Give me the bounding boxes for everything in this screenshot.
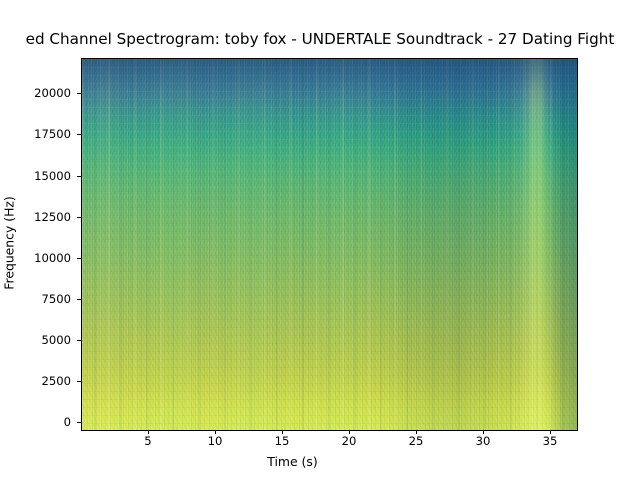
x-tick-label: 15 — [275, 434, 290, 448]
x-tick-mark — [550, 430, 551, 434]
spectrogram-image — [82, 59, 577, 430]
y-tick-mark — [77, 217, 81, 218]
x-axis-label: Time (s) — [0, 454, 640, 469]
x-tick-mark — [349, 430, 350, 434]
time-energy-envelope — [82, 59, 577, 430]
harmonic-bands-texture — [82, 59, 577, 430]
x-tick-label: 35 — [543, 434, 558, 448]
y-tick-mark — [77, 299, 81, 300]
y-tick-label: 20000 — [34, 86, 71, 100]
onset-striations-texture — [82, 59, 577, 430]
y-tick-label: 10000 — [34, 251, 71, 265]
y-tick-mark — [77, 93, 81, 94]
x-tick-label: 10 — [208, 434, 223, 448]
figure-title-clip: ed Channel Spectrogram: toby fox - UNDER… — [0, 28, 640, 50]
page-title: ed Channel Spectrogram: toby fox - UNDER… — [26, 28, 615, 50]
y-tick-label: 5000 — [41, 333, 71, 347]
x-tick-label: 30 — [476, 434, 491, 448]
y-tick-label: 7500 — [41, 292, 71, 306]
x-tick-mark — [483, 430, 484, 434]
y-tick-label: 15000 — [34, 169, 71, 183]
y-tick-mark — [77, 258, 81, 259]
y-tick-label: 2500 — [41, 374, 71, 388]
y-tick-mark — [77, 340, 81, 341]
y-tick-mark — [77, 176, 81, 177]
x-tick-label: 5 — [144, 434, 151, 448]
x-tick-label: 25 — [409, 434, 424, 448]
y-tick-mark — [77, 134, 81, 135]
x-tick-mark — [148, 430, 149, 434]
x-tick-mark — [215, 430, 216, 434]
beat-columns-texture — [82, 59, 577, 430]
y-tick-label: 0 — [64, 415, 71, 429]
y-tick-label: 12500 — [34, 210, 71, 224]
x-axis-label-text: Time (s) — [267, 454, 317, 469]
spectrogram-figure: ed Channel Spectrogram: toby fox - UNDER… — [0, 0, 640, 480]
noise-grain-texture — [82, 59, 577, 430]
spectrogram-plot-area[interactable] — [81, 58, 578, 431]
y-tick-mark — [77, 422, 81, 423]
y-tick-mark — [77, 381, 81, 382]
x-tick-mark — [282, 430, 283, 434]
high-frequency-rolloff-cap — [82, 59, 577, 430]
y-tick-label: 17500 — [34, 127, 71, 141]
x-tick-mark — [416, 430, 417, 434]
x-tick-label: 20 — [342, 434, 357, 448]
transient-highlight-34s — [82, 59, 577, 430]
